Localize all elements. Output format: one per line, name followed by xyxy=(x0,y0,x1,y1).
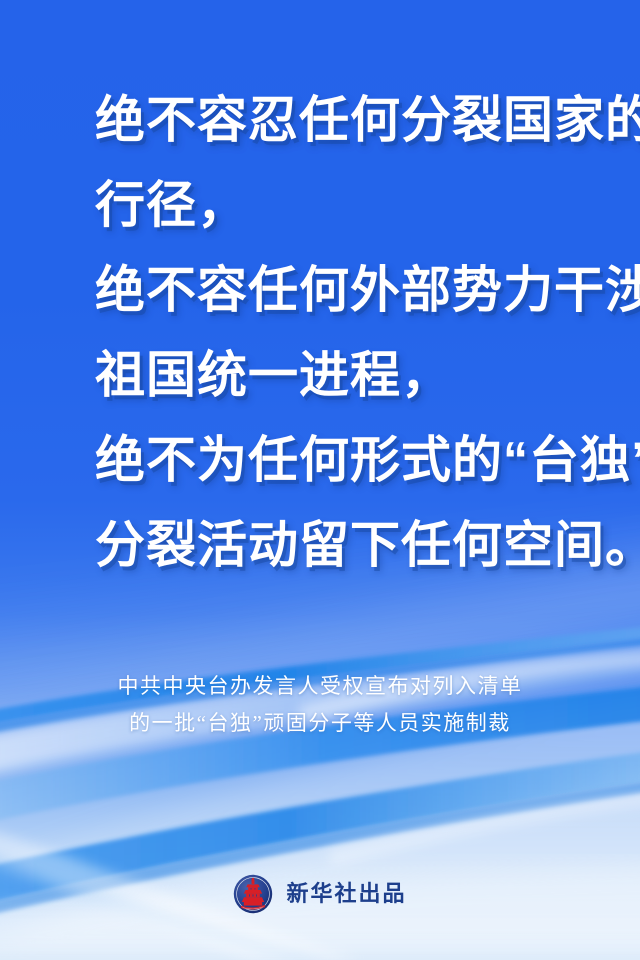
headline-line: 祖国统一进程， xyxy=(95,333,595,418)
headline-line: 绝不为任何形式的“台独” xyxy=(95,418,595,503)
headline-block: 绝不容忍任何分裂国家的 行径， 绝不容任何外部势力干涉 祖国统一进程， 绝不为任… xyxy=(95,78,595,588)
headline-line: 行径， xyxy=(95,163,595,248)
footer-brand-lockup: 新华社出品 xyxy=(0,874,640,914)
poster-canvas: 绝不容忍任何分裂国家的 行径， 绝不容任何外部势力干涉 祖国统一进程， 绝不为任… xyxy=(0,0,640,960)
brand-label: 新华社出品 xyxy=(286,883,406,905)
subtitle-line: 的一批“台独”顽固分子等人员实施制裁 xyxy=(0,705,640,742)
headline-line: 绝不容忍任何分裂国家的 xyxy=(95,78,595,163)
subtitle-line: 中共中央台办发言人受权宣布对列入清单 xyxy=(0,668,640,705)
subtitle-block: 中共中央台办发言人受权宣布对列入清单 的一批“台独”顽固分子等人员实施制裁 xyxy=(0,668,640,742)
xinhua-emblem-icon xyxy=(233,874,273,914)
headline-line: 绝不容任何外部势力干涉 xyxy=(95,248,595,333)
headline-line: 分裂活动留下任何空间。 xyxy=(95,503,595,588)
